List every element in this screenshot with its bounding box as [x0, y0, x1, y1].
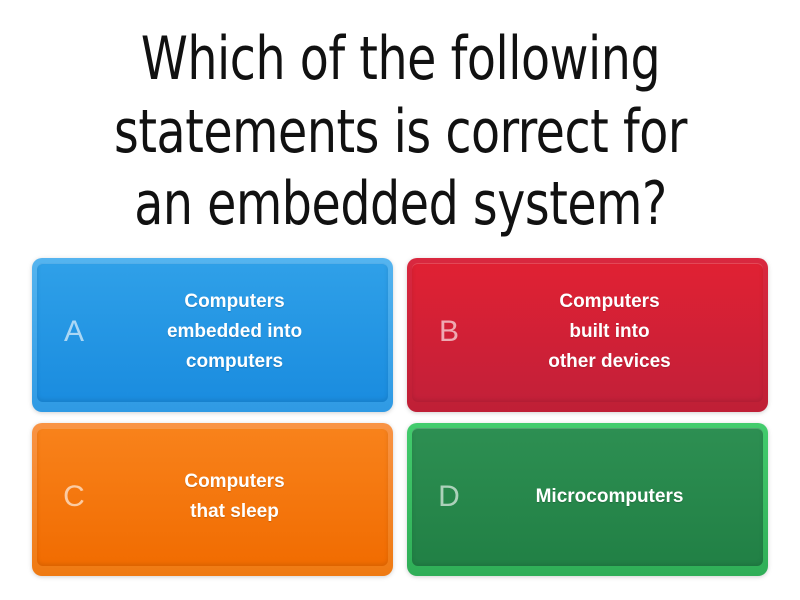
answer-option-d-face: D Microcomputers — [412, 428, 763, 567]
answer-option-a[interactable]: A Computers embedded into computers — [32, 258, 393, 412]
answer-option-c-label: Computers that sleep — [101, 467, 374, 527]
answer-option-b-label: Computers built into other devices — [476, 287, 749, 377]
quiz-screen: Which of the following statements is cor… — [0, 0, 800, 600]
answer-option-d-label: Microcomputers — [476, 482, 749, 512]
answer-option-a-letter: A — [47, 317, 101, 347]
answer-option-b-letter: B — [422, 317, 476, 347]
question-text: Which of the following statements is cor… — [114, 23, 687, 241]
answer-option-c[interactable]: C Computers that sleep — [32, 423, 393, 577]
answer-option-b-face: B Computers built into other devices — [412, 263, 763, 402]
answer-option-a-label: Computers embedded into computers — [101, 287, 374, 377]
answer-option-c-face: C Computers that sleep — [37, 428, 388, 567]
answer-option-a-face: A Computers embedded into computers — [37, 263, 388, 402]
answer-option-d-letter: D — [422, 482, 476, 512]
answer-options-grid: A Computers embedded into computers B Co… — [0, 258, 800, 600]
question-area: Which of the following statements is cor… — [0, 0, 800, 258]
answer-option-d[interactable]: D Microcomputers — [407, 423, 768, 577]
answer-option-c-letter: C — [47, 482, 101, 512]
answer-option-b[interactable]: B Computers built into other devices — [407, 258, 768, 412]
